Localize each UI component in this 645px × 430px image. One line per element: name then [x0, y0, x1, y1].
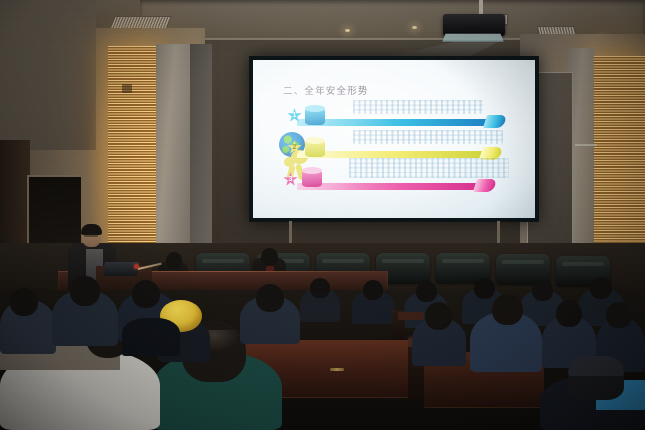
audience-head [256, 284, 284, 312]
audience-head [556, 300, 582, 327]
audience-head [363, 280, 383, 300]
audience-head [492, 294, 523, 325]
projector-lens [442, 34, 503, 42]
bench-armrest-top [398, 312, 424, 320]
stone-pillar-left [156, 44, 192, 276]
downlight-icon [412, 26, 417, 29]
downlight-icon [345, 29, 350, 32]
audience-head [416, 281, 437, 302]
wall-sign [122, 84, 132, 93]
audience-head [590, 277, 612, 299]
presenter-glasses-icon [84, 234, 98, 237]
audience-head [532, 280, 553, 301]
audience-head [10, 288, 38, 316]
cap-icon [568, 356, 624, 376]
projection-screen: 二、全年安全形势 1 [253, 60, 535, 218]
audience-head [606, 302, 632, 328]
laptop[interactable] [103, 262, 138, 276]
seat-number-plate [330, 368, 344, 371]
microphone-icon [134, 264, 139, 269]
projection-screen-frame: 二、全年安全形势 1 [249, 56, 539, 222]
room-interior: 二、全年安全形势 1 [0, 0, 645, 430]
door-handle-icon[interactable] [575, 144, 597, 146]
projector [443, 14, 505, 36]
wooden-slat-panel-left [108, 46, 156, 274]
audience-head [70, 276, 100, 306]
audience-head [132, 280, 160, 308]
audience-shoulder [122, 318, 180, 356]
seated-official-head [166, 252, 182, 269]
conference-hall-photo: 二、全年安全形势 1 [0, 0, 645, 430]
audience-head [310, 278, 330, 298]
audience-head [474, 278, 495, 299]
left-wall-upper [0, 0, 96, 150]
stone-pillar-left-shadow [190, 44, 212, 276]
screen-glare [253, 60, 535, 218]
seated-official-head [261, 248, 278, 266]
audience-head [425, 302, 452, 330]
